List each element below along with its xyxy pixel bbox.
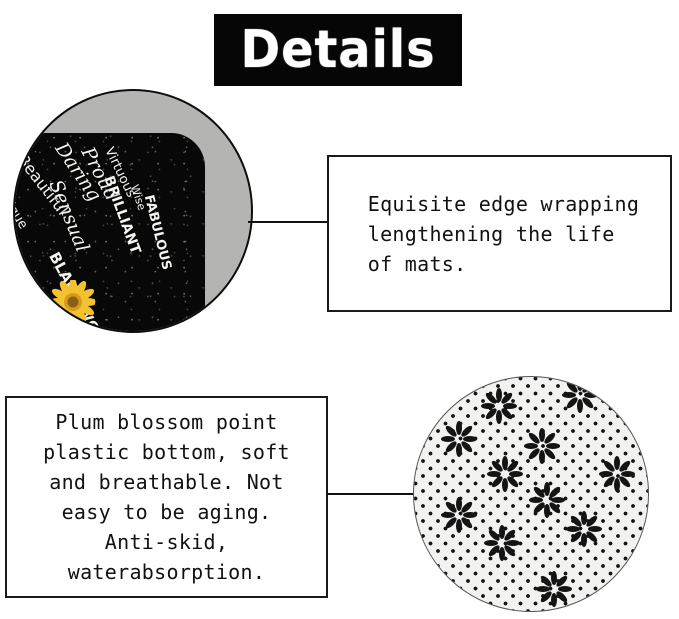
crown-icon xyxy=(101,331,147,333)
connector-line-bottom xyxy=(327,493,415,495)
mat-surface: Virtuous Wise Proud Daring Beautiful Sen… xyxy=(13,133,205,333)
plum-blossom-rosettes xyxy=(414,377,649,612)
woman-face-graphic xyxy=(13,316,63,333)
connector-line-top xyxy=(248,221,329,223)
callout-plum-bottom-text: Plum blossom point plastic bottom, soft … xyxy=(35,407,298,587)
infographic-canvas: Details Virtuous Wise Proud Daring Beaut… xyxy=(0,0,679,619)
callout-edge-wrapping-text: Equisite edge wrapping lengthening the l… xyxy=(354,189,646,279)
details-header-banner: Details xyxy=(214,14,462,86)
callout-plum-bottom: Plum blossom point plastic bottom, soft … xyxy=(5,396,328,598)
backing-closeup-photo xyxy=(413,376,649,612)
mat-closeup-photo: Virtuous Wise Proud Daring Beautiful Sen… xyxy=(13,89,253,333)
page-title: Details xyxy=(240,24,435,76)
callout-edge-wrapping: Equisite edge wrapping lengthening the l… xyxy=(327,155,672,312)
